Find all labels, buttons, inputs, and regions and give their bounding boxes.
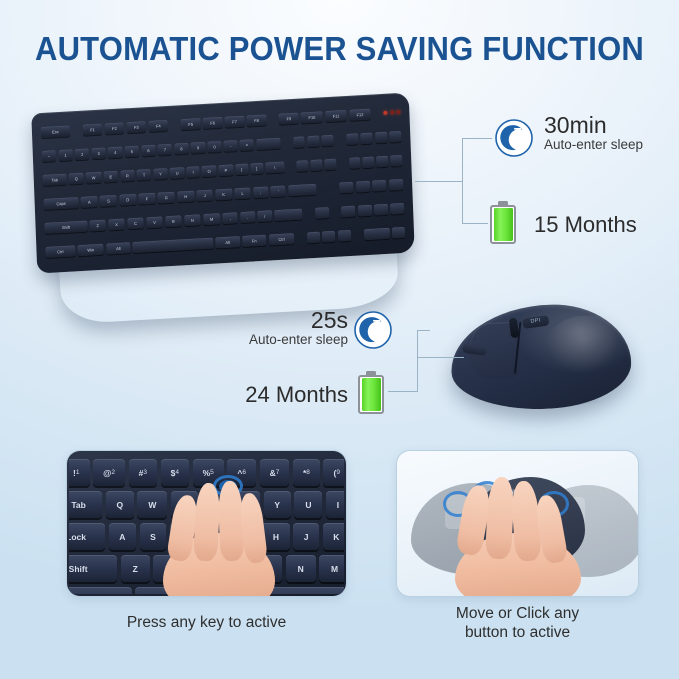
mouse-battery-life: 24 Months bbox=[236, 382, 348, 408]
mouse-wake-caption-line2: button to active bbox=[396, 623, 639, 642]
battery-full-icon bbox=[490, 201, 516, 244]
mouse-sleep-value: 25s bbox=[238, 308, 348, 332]
page-title: AUTOMATIC POWER SAVING FUNCTION bbox=[20, 30, 658, 68]
svg-text:Z: Z bbox=[513, 125, 522, 141]
mouse-wake-caption-line1: Move or Click any bbox=[396, 604, 639, 623]
mouse-hump-highlight bbox=[536, 314, 635, 399]
keyboard-illustration: Esc F1F2F3F4 F5F6F7F8 F9F10F11F12 ~123 4… bbox=[30, 95, 425, 310]
keyboard-wake-caption: Press any key to active bbox=[66, 613, 347, 632]
battery-shell bbox=[490, 205, 516, 245]
mouse-scroll-wheel bbox=[509, 318, 519, 339]
keyboard-sleep-label: Auto-enter sleep bbox=[544, 137, 643, 154]
mouse-side-button bbox=[462, 344, 487, 356]
keyboard-wake-panel: !1@2 #3$4 %5^6 &7*8 (9 Tab QWE RTY UI Lo… bbox=[66, 450, 347, 597]
sleep-moon-z-icon: Z bbox=[494, 118, 534, 158]
battery-fill bbox=[362, 378, 381, 411]
battery-fill bbox=[494, 208, 513, 241]
mouse-wake-panel: DPI bbox=[396, 450, 639, 597]
mouse-sleep-label: Auto-enter sleep bbox=[238, 332, 348, 349]
keyboard-battery-life: 15 Months bbox=[534, 212, 637, 238]
mouse-dpi-button: DPI bbox=[522, 314, 549, 329]
svg-text:Z: Z bbox=[372, 317, 381, 333]
sleep-moon-z-icon: Z bbox=[353, 310, 393, 350]
keyboard-sleep-value: 30min bbox=[544, 113, 643, 137]
keyboard-keycaps: Esc F1F2F3F4 F5F6F7F8 F9F10F11F12 ~123 4… bbox=[31, 92, 415, 273]
battery-full-icon bbox=[358, 371, 384, 414]
battery-shell bbox=[358, 375, 384, 415]
keyboard-sleep-callout: 30min Auto-enter sleep bbox=[544, 113, 643, 154]
mouse-illustration: DPI bbox=[445, 295, 640, 420]
mouse-sleep-callout: 25s Auto-enter sleep bbox=[238, 308, 348, 349]
mouse-wake-caption: Move or Click any button to active bbox=[396, 604, 639, 643]
